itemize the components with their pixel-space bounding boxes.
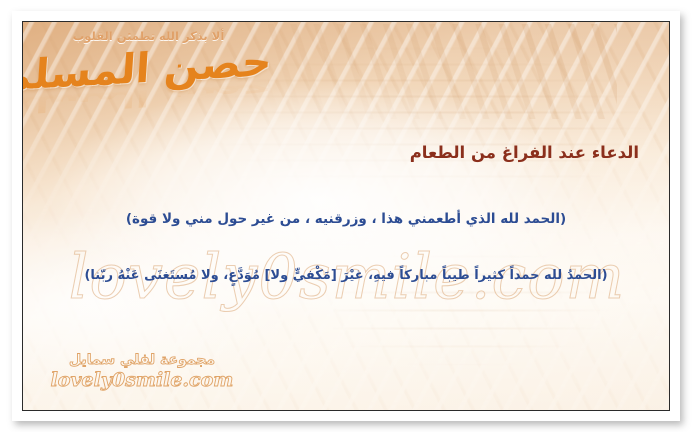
card-root: lovely0smile.com ألا بذكر الله تطمئن الق… [0,0,692,432]
brand-arabic-name: مجموعة لفلي سمايل [47,352,237,369]
main-content: الدعاء عند الفراغ من الطعام (الحمد لله ا… [23,142,669,287]
brand-website-url[interactable]: lovely0smile.com [47,370,237,392]
dua-text-1: (الحمد لله الذي أطعمني هذا ، وزرقنيه ، م… [41,209,651,230]
dua-text-2: (الحمدُ لله حمداً كثيراً طيباً مباركاً ف… [41,266,651,286]
header-calligraphy-title: حصن المسلم [24,40,273,97]
branding-block[interactable]: مجموعة لفلي سمايل lovely0smile.com [47,352,237,392]
card-frame: lovely0smile.com ألا بذكر الله تطمئن الق… [22,21,670,411]
dua-section-title: الدعاء عند الفراغ من الطعام [41,142,651,163]
header-zone: ألا بذكر الله تطمئن القلوب حصن المسلم حص… [26,30,271,119]
